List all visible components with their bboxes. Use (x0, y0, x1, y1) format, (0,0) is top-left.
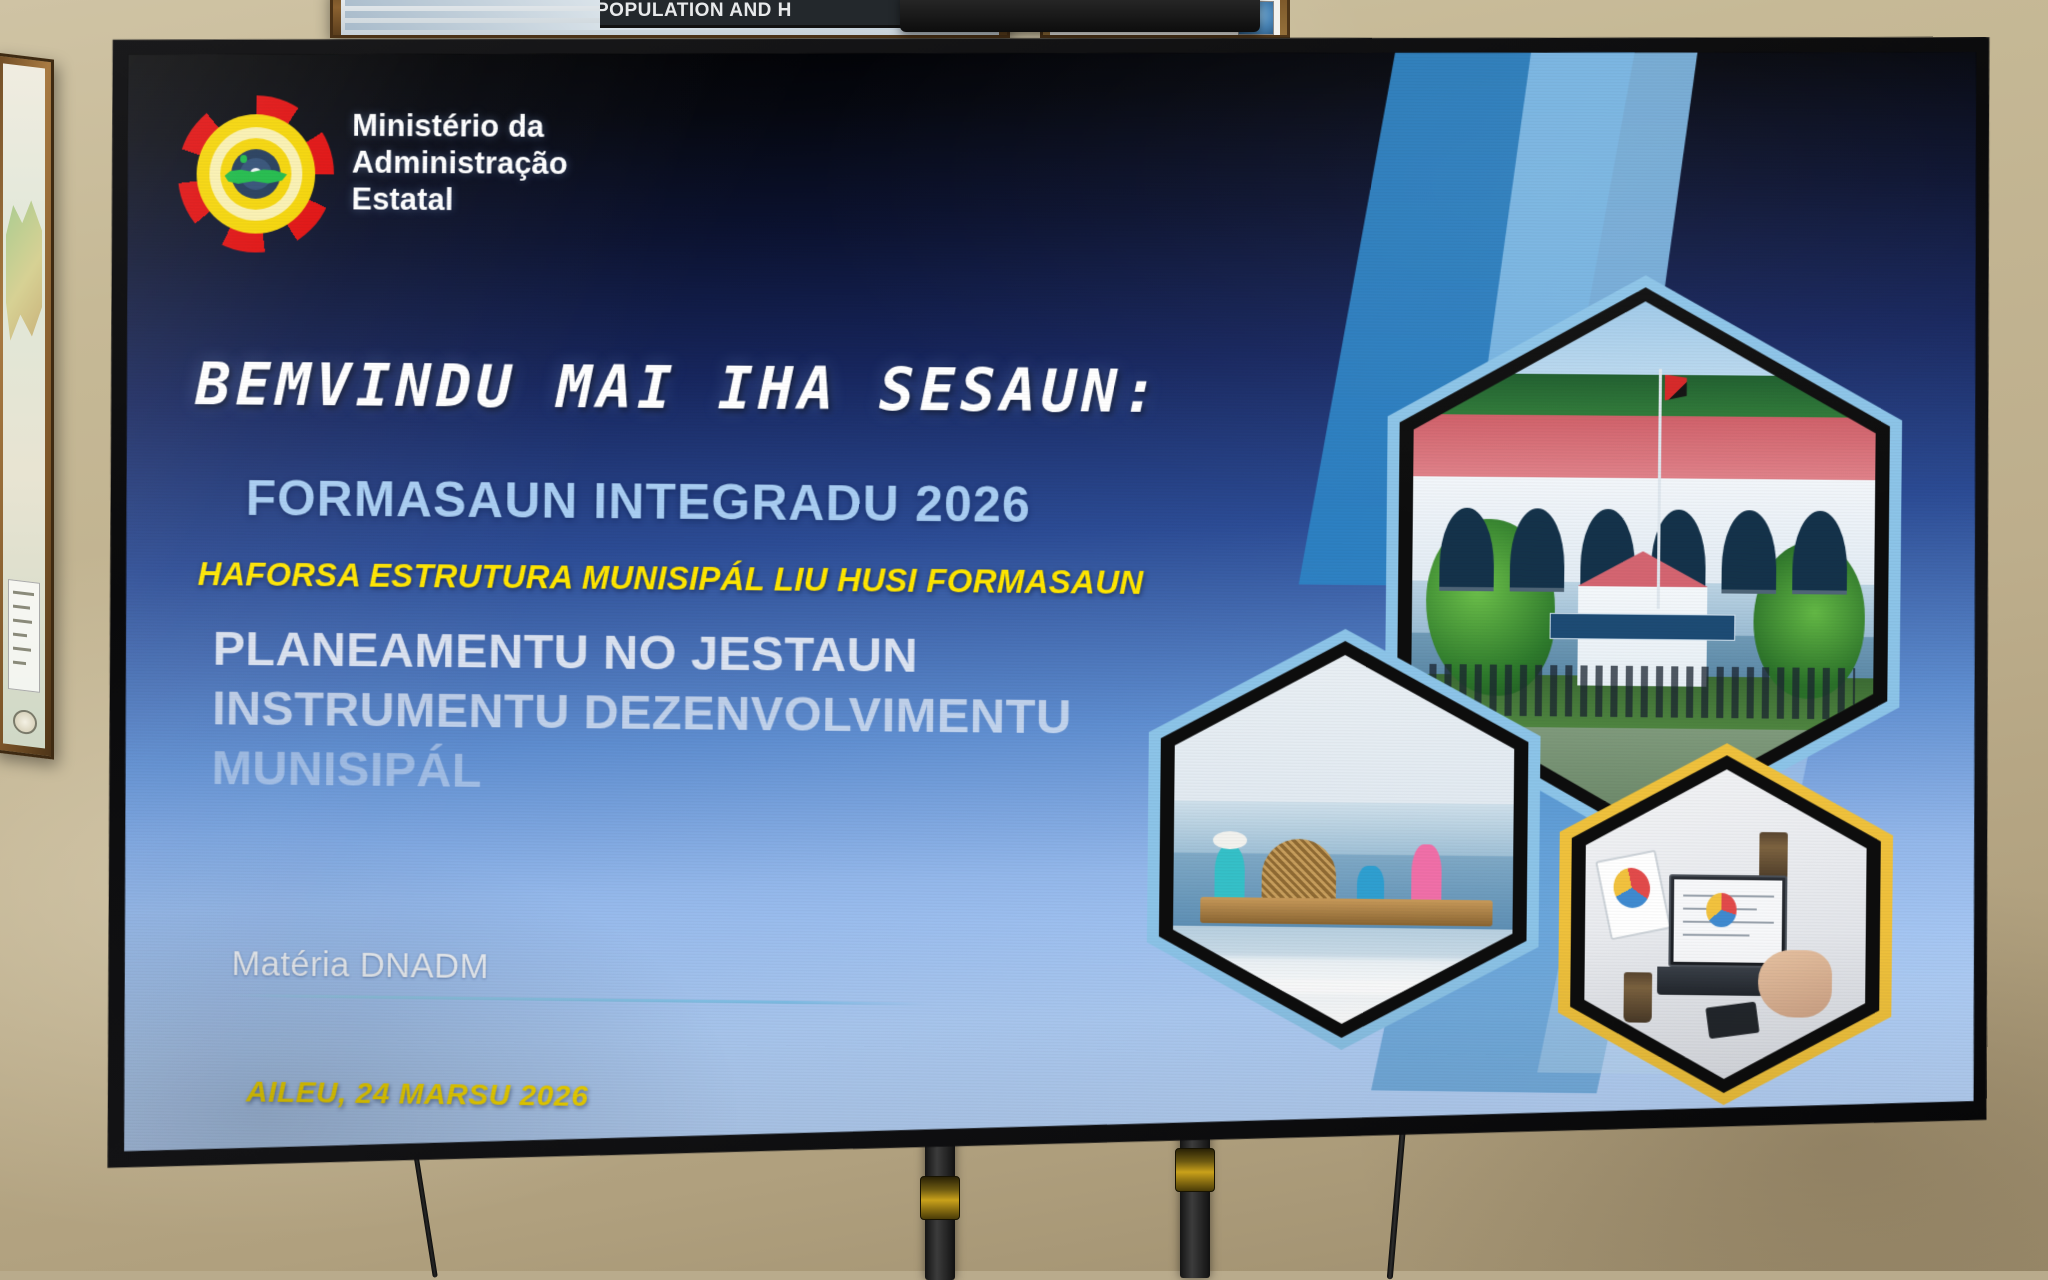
television-display: Ministério da Administração Estatal BEMV… (96, 27, 1997, 1195)
author-label: Matéria DNADM (231, 944, 946, 993)
welcome-title: BEMVINDU MAI IHA SESAUN: (195, 349, 1163, 426)
sun-hat-icon (1213, 831, 1247, 850)
smartphone-device (1706, 1002, 1760, 1039)
event-footer: AILEU, 24 MARSU 2026 (246, 1076, 589, 1114)
map-seal-icon (13, 709, 37, 736)
subject-line-1: PLANEAMENTU NO JESTAUN (213, 620, 1218, 690)
theme-line: HAFORSA ESTRUTURA MUNISIPÁL LIU HUSI FOR… (198, 555, 1144, 602)
author-block: Matéria DNADM (231, 944, 947, 1006)
tv-wall-mount-bar (900, 0, 1260, 32)
hall-sign-text: POPULATION AND H (600, 0, 792, 22)
building-signboard (1550, 613, 1735, 641)
map-legend (8, 579, 40, 693)
ministry-branding: Ministério da Administração Estatal (177, 93, 654, 255)
subject-line-2: INSTRUMENTU DEZENVOLVIMENTU (212, 679, 1217, 749)
author-underline-rule (231, 994, 926, 1006)
coffee-cup-icon (1623, 972, 1652, 1022)
presentation-title-slide: Ministério da Administração Estatal BEMV… (111, 41, 1983, 1179)
timor-leste-islet-icon (240, 155, 246, 163)
pole-clamp-icon (920, 1176, 960, 1220)
hand-typing (1758, 949, 1832, 1018)
ministry-name-line-2: Administração (352, 145, 650, 184)
flag-icon (1664, 374, 1686, 400)
outrigger-canoe (1200, 897, 1492, 926)
office-desk-photo (1557, 742, 1894, 1108)
ministry-name: Ministério da Administração Estatal (351, 108, 650, 220)
ministry-emblem-icon (177, 95, 335, 253)
subject-block: PLANEAMENTU NO JESTAUN INSTRUMENTU DEZEN… (211, 620, 1218, 809)
map-paper (3, 63, 45, 748)
tv-screen: Ministério da Administração Estatal BEMV… (111, 41, 1983, 1179)
framed-wall-map (0, 52, 54, 760)
subject-line-3: MUNISIPÁL (211, 739, 1216, 810)
map-landmass (6, 184, 42, 358)
coffee-cup-icon (1759, 832, 1788, 882)
session-title: FORMASAUN INTEGRADU 2026 (246, 469, 1032, 534)
pie-chart-icon (1706, 893, 1737, 927)
ministry-name-line-1: Ministério da (352, 108, 650, 147)
ministry-name-line-3: Estatal (351, 181, 649, 220)
